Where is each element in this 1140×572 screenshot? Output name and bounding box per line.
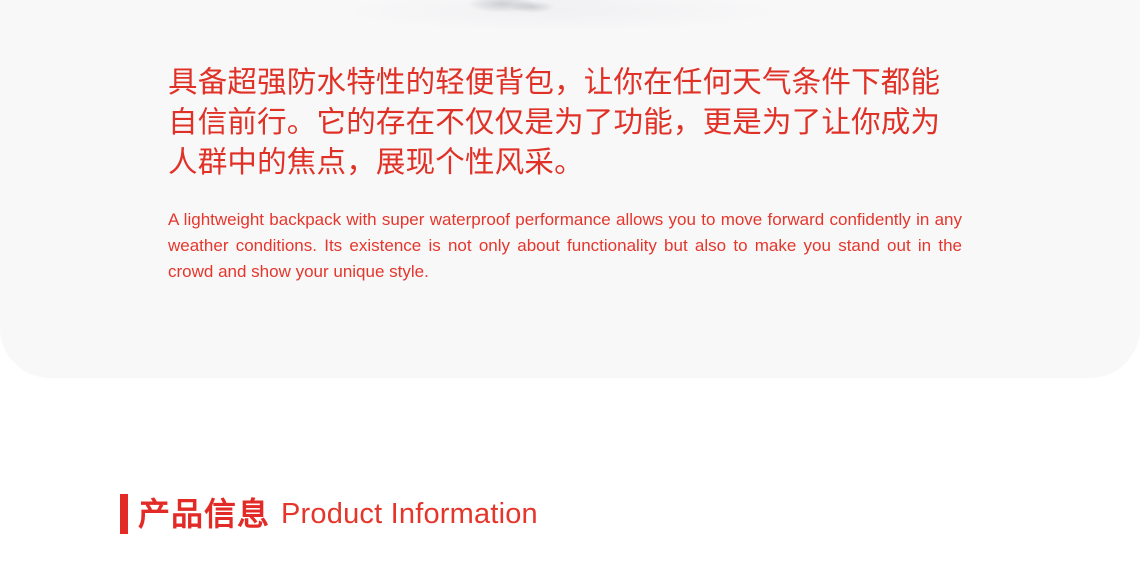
section-heading-product-information: 产品信息 Product Information [120,494,538,534]
product-description-card: 具备超强防水特性的轻便背包，让你在任何天气条件下都能自信前行。它的存在不仅仅是为… [0,0,1140,378]
product-headline-english: A lightweight backpack with super waterp… [168,182,962,285]
section-title-english: Product Information [281,494,538,534]
product-description-content: 具备超强防水特性的轻便背包，让你在任何天气条件下都能自信前行。它的存在不仅仅是为… [168,0,962,285]
product-headline-chinese: 具备超强防水特性的轻便背包，让你在任何天气条件下都能自信前行。它的存在不仅仅是为… [168,0,962,182]
heading-accent-bar [120,494,128,534]
section-title-chinese: 产品信息 [138,494,270,534]
